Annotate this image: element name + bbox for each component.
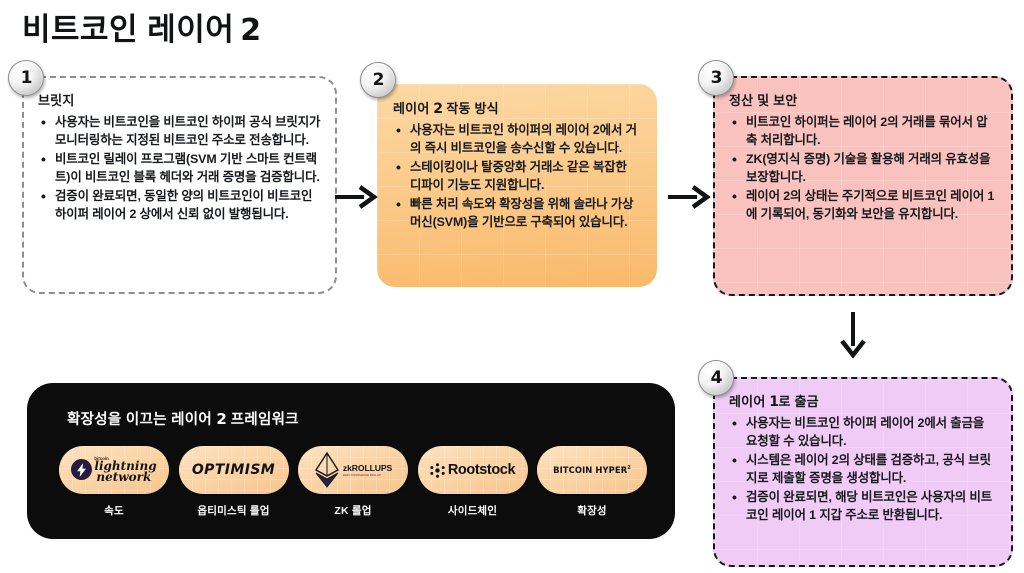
step-badge-3-number: 3 [711,68,722,88]
zk-rollups-logo: zkROLLUPS ZERO KNOWLEDGE ROLLUP [314,451,392,489]
list-item: ZK(영지식 증명) 기술을 활용해 거래의 유효성을 보장합니다. [729,151,997,186]
rootstock-node-icon [430,463,445,478]
step-4-title-number: 1 [769,394,778,410]
step-3-title: 정산 및 보안 [729,90,997,109]
step-1-title: 브릿지 [38,90,321,109]
framework-item-lightning-network[interactable]: bitcoin lightning network 속도 [59,446,169,518]
step-2-title-prefix: 레이어 [393,101,429,116]
framework-caption-optimistic-rollup: 옵티미스틱 롤업 [197,503,269,518]
step-card-2: 레이어 2 작동 방식 사용자는 비트코인 하이퍼의 레이어 2에서 거의 즉시… [377,84,657,287]
framework-caption-speed: 속도 [104,503,124,518]
step-3-bullets: 비트코인 하이퍼는 레이어 2의 거래를 묶어서 압축 처리합니다. ZK(영지… [729,114,997,224]
ethereum-diamond-icon [314,451,340,489]
step-badge-1-number: 1 [21,68,32,88]
list-item: 비트코인 릴레이 프로그램(SVM 기반 스마트 컨트랙트)이 비트코인 블록 … [38,151,321,186]
rootstock-logo-pill: Rootstock [418,446,528,494]
step-2-content: 레이어 2 작동 방식 사용자는 비트코인 하이퍼의 레이어 2에서 거의 즉시… [377,84,657,244]
optimism-wordmark: OPTIMISM [192,462,275,478]
framework-panel: 확장성을 이끄는 레이어 2 프레임워크 bitcoin [27,383,675,539]
framework-item-optimism[interactable]: OPTIMISM 옵티미스틱 롤업 [179,446,289,518]
framework-item-rootstock[interactable]: Rootstock 사이드체인 [418,446,528,518]
step-badge-3: 3 [698,60,734,96]
step-badge-4: 4 [698,360,734,396]
step-card-4: 레이어 1로 출금 사용자는 비트코인 하이퍼 레이어 2에서 출금을 요청할 … [713,377,1013,567]
framework-caption-sidechain: 사이드체인 [448,503,497,518]
step-4-title-prefix: 레이어 [729,394,765,409]
list-item: 사용자는 비트코인을 비트코인 하이퍼 공식 브릿지가 모니터링하는 지정된 비… [38,114,321,149]
list-item: 검증이 완료되면, 동일한 양의 비트코인이 비트코인 하이퍼 레이어 2 상에… [38,188,321,223]
rootstock-wordmark: Rootstock [448,462,515,478]
list-item: 검증이 완료되면, 해당 비트코인은 사용자의 비트코인 레이어 1 지갑 주소… [729,489,997,524]
step-card-3: 정산 및 보안 비트코인 하이퍼는 레이어 2의 거래를 묶어서 압축 처리합니… [713,76,1013,296]
framework-title-suffix: 프레임워크 [231,412,299,428]
list-item: 레이어 2의 상태는 주기적으로 비트코인 레이어 1에 기록되어, 동기화와 … [729,188,997,223]
step-3-content: 정산 및 보안 비트코인 하이퍼는 레이어 2의 거래를 묶어서 압축 처리합니… [713,76,1013,236]
bitcoin-hyper-logo-pill: BITCOIN HYPER2 [537,446,647,494]
list-item: 빠른 처리 속도와 확장성을 위해 솔라나 가상머신(SVM)을 기반으로 구축… [393,196,641,231]
step-2-title-suffix: 작동 방식 [446,101,498,116]
step-4-title-suffix: 로 출금 [779,394,819,409]
step-badge-2-number: 2 [373,70,384,90]
framework-caption-zk-rollup: ZK 롤업 [334,503,371,518]
framework-title-prefix: 확장성을 이끄는 레이어 [67,412,212,428]
lightning-bolt-icon [71,459,92,480]
page-title-text: 비트코인 레이어 [22,12,234,47]
zk-main-label: zkROLLUPS [343,463,392,473]
list-item: 사용자는 비트코인 하이퍼 레이어 2에서 출금을 요청할 수 있습니다. [729,415,997,450]
step-badge-4-number: 4 [711,368,722,388]
zk-rollups-logo-pill: zkROLLUPS ZERO KNOWLEDGE ROLLUP [298,446,408,494]
step-2-title-number: 2 [433,101,442,117]
step-4-title: 레이어 1로 출금 [729,391,997,410]
list-item: 비트코인 하이퍼는 레이어 2의 거래를 묶어서 압축 처리합니다. [729,114,997,149]
lightning-network-wordmark: bitcoin lightning network [94,457,156,483]
bitcoin-hyper-logo: BITCOIN HYPER2 [553,465,631,475]
optimism-logo-pill: OPTIMISM [179,446,289,494]
step-card-1: 브릿지 사용자는 비트코인을 비트코인 하이퍼 공식 브릿지가 모니터링하는 지… [22,76,337,294]
arrow-right-icon-2 [667,184,711,215]
page-title: 비트코인 레이어2 [22,4,260,49]
step-4-bullets: 사용자는 비트코인 하이퍼 레이어 2에서 출금을 요청할 수 있습니다. 시스… [729,415,997,525]
list-item: 스테이킹이나 탈중앙화 거래소 같은 복잡한 디파이 기능도 지원합니다. [393,159,641,194]
framework-item-zk-rollups[interactable]: zkROLLUPS ZERO KNOWLEDGE ROLLUP ZK 롤업 [298,446,408,518]
lightning-line2: network [96,472,156,483]
bitcoin-hyper-wordmark: BITCOIN HYPER [553,465,627,475]
lightning-network-logo: bitcoin lightning network [71,457,156,483]
step-1-content: 브릿지 사용자는 비트코인을 비트코인 하이퍼 공식 브릿지가 모니터링하는 지… [22,76,337,236]
lightning-network-logo-pill: bitcoin lightning network [59,446,169,494]
step-4-content: 레이어 1로 출금 사용자는 비트코인 하이퍼 레이어 2에서 출금을 요청할 … [713,377,1013,537]
arrow-right-icon-1 [334,184,378,215]
step-2-bullets: 사용자는 비트코인 하이퍼의 레이어 2에서 거의 즉시 비트코인을 송수신할 … [393,122,641,232]
step-badge-2: 2 [360,62,396,98]
framework-logo-row: bitcoin lightning network 속도 OPTIMISM 옵티… [59,446,647,518]
framework-caption-scalability: 확장성 [577,503,607,518]
bitcoin-hyper-superscript: 2 [627,465,631,471]
zk-sub-label: ZERO KNOWLEDGE ROLLUP [343,474,381,477]
list-item: 사용자는 비트코인 하이퍼의 레이어 2에서 거의 즉시 비트코인을 송수신할 … [393,122,641,157]
page-title-number: 2 [234,13,260,48]
step-badge-1: 1 [8,60,44,96]
rootstock-logo: Rootstock [430,462,515,478]
framework-title: 확장성을 이끄는 레이어 2 프레임워크 [67,408,299,429]
arrow-down-icon [838,310,868,365]
framework-title-number: 2 [216,410,226,428]
framework-item-bitcoin-hyper[interactable]: BITCOIN HYPER2 확장성 [537,446,647,518]
step-1-bullets: 사용자는 비트코인을 비트코인 하이퍼 공식 브릿지가 모니터링하는 지정된 비… [38,114,321,224]
zk-rollups-wordmark: zkROLLUPS ZERO KNOWLEDGE ROLLUP [343,463,392,477]
infographic-canvas: 비트코인 레이어2 브릿지 사용자는 비트코인을 비트코인 하이퍼 공식 브릿지… [0,0,1024,573]
step-2-title: 레이어 2 작동 방식 [393,98,641,117]
list-item: 시스템은 레이어 2의 상태를 검증하고, 공식 브릿지로 제출할 증명을 생성… [729,452,997,487]
